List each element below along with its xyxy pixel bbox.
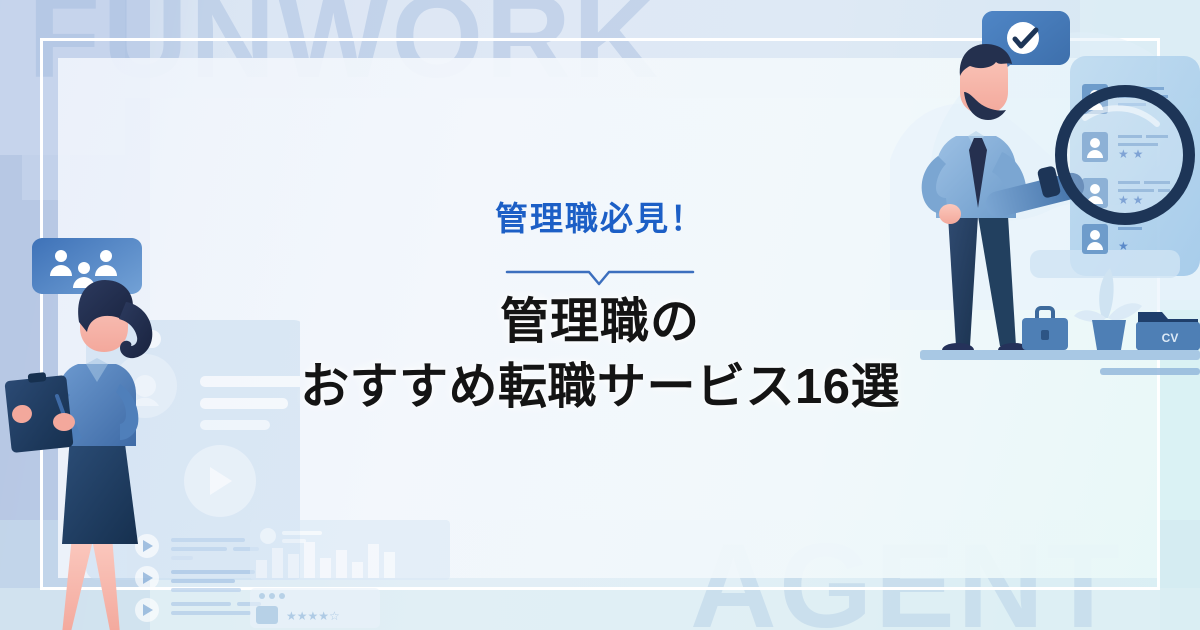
text-block: 管理職必見！ 管理職の おすすめ転職サービス16選 — [0, 0, 1200, 630]
page-title: 管理職の おすすめ転職サービス16選 — [0, 290, 1200, 420]
headline-line-1: 管理職の — [0, 290, 1200, 355]
eyebrow-text: 管理職必見！ — [0, 192, 1200, 240]
notched-divider — [505, 258, 695, 286]
headline-line-2: おすすめ転職サービス16選 — [0, 355, 1200, 420]
banner-canvas: FUNWORK AGENT — [0, 0, 1200, 630]
